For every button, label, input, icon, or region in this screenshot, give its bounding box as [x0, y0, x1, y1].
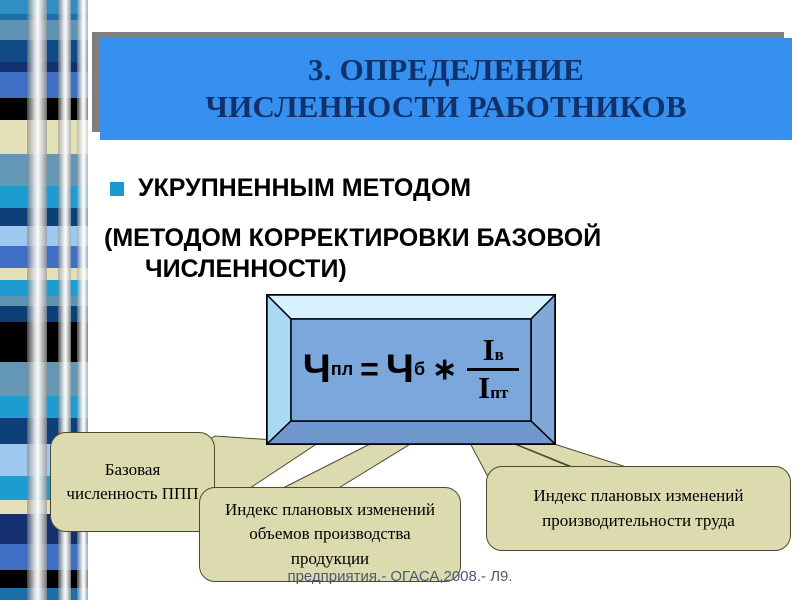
- formula-den-sub: пт: [490, 383, 508, 402]
- formula-denominator: Iпт: [473, 372, 513, 405]
- formula-bevel-right: [531, 295, 555, 444]
- formula-num-sub: в: [495, 345, 504, 364]
- footer-citation: предприятия.- ОГАСА,2008.- Л9.: [0, 568, 800, 585]
- callout-productivity-index: Индекс плановых изменений производительн…: [486, 466, 791, 551]
- formula-num-var: I: [483, 332, 495, 367]
- callout-base-headcount-text: Базовая численность ППП: [60, 458, 205, 506]
- formula-den-var: I: [478, 370, 490, 405]
- slide-canvas: 3. ОПРЕДЕЛЕНИЕ ЧИСЛЕННОСТИ РАБОТНИКОВ УК…: [0, 0, 800, 600]
- callout-base-headcount: Базовая численность ППП: [50, 432, 215, 532]
- formula-rhs-var: Ч: [386, 347, 414, 392]
- callout-productivity-index-text: Индекс плановых изменений производительн…: [496, 484, 781, 532]
- formula-bevel-left: [267, 295, 291, 444]
- formula-equals: =: [360, 351, 379, 388]
- formula-lhs-sub: пл: [331, 359, 353, 380]
- formula-expression: Чпл = Чб ∗ Iв Iпт: [290, 318, 532, 421]
- formula-numerator: Iв: [478, 334, 509, 367]
- formula-fraction-bar: [467, 368, 519, 371]
- formula-rhs-sub: б: [414, 359, 425, 380]
- formula-fraction: Iв Iпт: [467, 334, 519, 404]
- formula-lhs-var: Ч: [303, 347, 331, 392]
- formula-multiply: ∗: [432, 352, 457, 387]
- formula-bevel-top: [267, 295, 555, 319]
- formula-bevel-bottom: [267, 421, 555, 444]
- callout-output-index-text: Индекс плановых изменений объемов произв…: [209, 498, 451, 570]
- formula-box: Чпл = Чб ∗ Iв Iпт: [266, 294, 556, 445]
